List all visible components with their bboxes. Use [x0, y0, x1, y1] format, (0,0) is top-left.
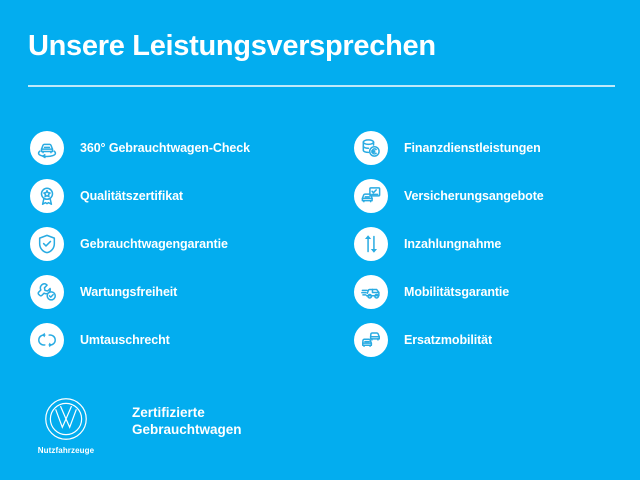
promise-slide: Unsere Leistungsversprechen 360° Gebrauc… [0, 0, 640, 480]
feature-item-versicherungsangebote[interactable]: Versicherungsangebote [354, 172, 640, 220]
feature-label: Wartungsfreiheit [80, 285, 177, 299]
feature-label: Finanzdienstleistungen [404, 141, 541, 155]
feature-item-finanzdienstleistungen[interactable]: Finanzdienstleistungen [354, 124, 640, 172]
up-down-arrows-icon [354, 227, 388, 261]
footer-claim-line1: Zertifizierte [132, 404, 242, 421]
footer-claim: Zertifizierte Gebrauchtwagen [132, 404, 242, 439]
feature-label: Mobilitätsgarantie [404, 285, 509, 299]
shield-check-icon [30, 227, 64, 261]
feature-column-right: Finanzdienstleistungen Versicherungsange… [354, 124, 640, 364]
feature-label: Umtauschrecht [80, 333, 170, 347]
two-cars-icon [354, 323, 388, 357]
feature-item-gebrauchtwagengarantie[interactable]: Gebrauchtwagengarantie [30, 220, 320, 268]
wrench-check-icon [30, 275, 64, 309]
car-check-360-icon [30, 131, 64, 165]
feature-label: Ersatzmobilität [404, 333, 492, 347]
feature-label: Gebrauchtwagengarantie [80, 237, 228, 251]
page-title: Unsere Leistungsversprechen [28, 31, 436, 61]
van-motion-icon [354, 275, 388, 309]
feature-label: Qualitätszertifikat [80, 189, 183, 203]
footer: Nutzfahrzeuge Zertifizierte Gebrauchtwag… [30, 396, 242, 455]
feature-item-umtauschrecht[interactable]: Umtauschrecht [30, 316, 320, 364]
feature-item-qualitaetszertifikat[interactable]: Qualitätszertifikat [30, 172, 320, 220]
brand-logo-block: Nutzfahrzeuge [30, 396, 102, 455]
title-divider [28, 85, 615, 87]
feature-label: Inzahlungnahme [404, 237, 501, 251]
feature-item-gebrauchtwagen-check[interactable]: 360° Gebrauchtwagen-Check [30, 124, 320, 172]
feature-item-ersatzmobilitaet[interactable]: Ersatzmobilität [354, 316, 640, 364]
feature-item-inzahlungnahme[interactable]: Inzahlungnahme [354, 220, 640, 268]
feature-item-mobilitaetsgarantie[interactable]: Mobilitätsgarantie [354, 268, 640, 316]
coins-euro-icon [354, 131, 388, 165]
feature-label: Versicherungsangebote [404, 189, 544, 203]
feature-item-wartungsfreiheit[interactable]: Wartungsfreiheit [30, 268, 320, 316]
award-rosette-icon [30, 179, 64, 213]
car-document-icon [354, 179, 388, 213]
exchange-arrows-icon [30, 323, 64, 357]
feature-label: 360° Gebrauchtwagen-Check [80, 141, 250, 155]
feature-column-left: 360° Gebrauchtwagen-Check Qualitätszerti… [30, 124, 320, 364]
volkswagen-logo [43, 396, 89, 442]
brand-subtitle: Nutzfahrzeuge [38, 446, 94, 455]
footer-claim-line2: Gebrauchtwagen [132, 421, 242, 438]
